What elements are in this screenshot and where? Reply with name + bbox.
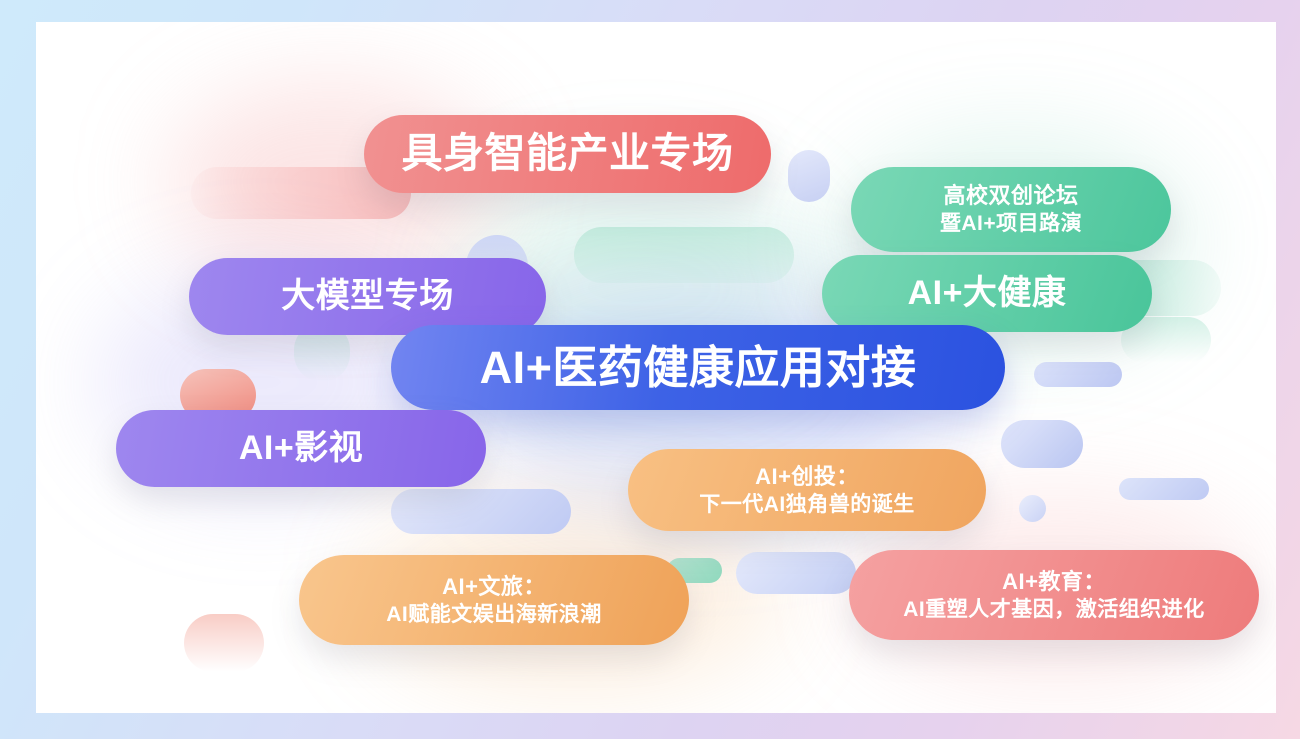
pill-ai-health[interactable]: AI+大健康 (822, 255, 1152, 332)
decorative-blue-pill (1119, 478, 1209, 500)
pill-embodied-ai[interactable]: 具身智能产业专场 (364, 115, 771, 193)
decorative-blue-circle (788, 150, 830, 202)
pill-ai-tourism-line1: AI+文旅： (442, 572, 546, 601)
poster-canvas: 具身智能产业专场 高校双创论坛 暨AI+项目路演 大模型专场 AI+大健康 AI… (36, 22, 1276, 713)
decorative-blue-dot (1019, 495, 1046, 522)
pill-ai-venture[interactable]: AI+创投： 下一代AI独角兽的诞生 (628, 449, 986, 531)
pill-ai-tourism-line2: AI赋能文娱出海新浪潮 (386, 601, 602, 629)
pill-ai-education-line1: AI+教育： (1002, 567, 1106, 596)
decorative-blue-pill (1001, 420, 1083, 468)
pill-large-model[interactable]: 大模型专场 (189, 258, 546, 335)
pill-hero-ai-medical-label: AI+医药健康应用对接 (480, 343, 917, 393)
pill-campus-forum-line1: 高校双创论坛 (943, 181, 1078, 210)
pill-ai-tourism[interactable]: AI+文旅： AI赋能文娱出海新浪潮 (299, 555, 689, 645)
pill-ai-venture-line1: AI+创投： (755, 462, 859, 491)
pill-large-model-label: 大模型专场 (281, 278, 454, 315)
decorative-blue-pill (736, 552, 856, 594)
pill-ai-education[interactable]: AI+教育： AI重塑人才基因，激活组织进化 (849, 550, 1259, 640)
pill-ai-venture-line2: 下一代AI独角兽的诞生 (699, 491, 915, 519)
pill-hero-ai-medical[interactable]: AI+医药健康应用对接 (391, 325, 1005, 410)
decorative-blue-pill (1034, 362, 1122, 387)
pill-ai-education-line2: AI重塑人才基因，激活组织进化 (903, 596, 1205, 624)
pill-ai-film[interactable]: AI+影视 (116, 410, 486, 487)
decorative-blue-pill (391, 489, 571, 534)
decorative-coral-blob (184, 614, 264, 672)
pill-campus-forum[interactable]: 高校双创论坛 暨AI+项目路演 (851, 167, 1171, 252)
pill-ai-health-label: AI+大健康 (908, 275, 1067, 312)
pill-ai-film-label: AI+影视 (239, 430, 363, 467)
decorative-green-pill (574, 227, 794, 283)
pill-campus-forum-line2: 暨AI+项目路演 (940, 210, 1082, 238)
poster-frame: 具身智能产业专场 高校双创论坛 暨AI+项目路演 大模型专场 AI+大健康 AI… (0, 0, 1300, 739)
pill-embodied-ai-label: 具身智能产业专场 (402, 131, 734, 176)
